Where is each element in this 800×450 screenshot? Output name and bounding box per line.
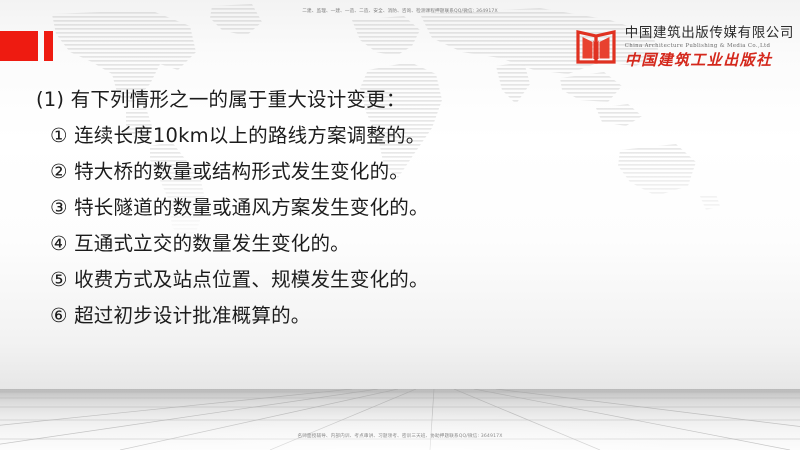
watermark-top: 二建、监理、一建、一造、二造、安全、消防、咨询、检测课程押题联系QQ/微信: 3…: [0, 8, 800, 14]
content-item-2: ② 特大桥的数量或结构形式发生变化的。: [36, 154, 736, 190]
publisher-logo: 中国建筑出版传媒有限公司 China Architecture Publishi…: [574, 26, 794, 68]
publisher-press-name-cn: 中国建筑工业出版社: [625, 52, 794, 69]
publisher-logo-text: 中国建筑出版传媒有限公司 China Architecture Publishi…: [625, 26, 794, 68]
slide-content: (1) 有下列情形之一的属于重大设计变更： ① 连续长度10km以上的路线方案调…: [36, 82, 736, 334]
publisher-company-name-en: China Architecture Publishing & Media Co…: [625, 43, 794, 50]
presentation-slide: 二建、监理、一建、一造、二造、安全、消防、咨询、检测课程押题联系QQ/微信: 3…: [0, 0, 800, 450]
red-bar-wide: [0, 31, 38, 61]
content-item-6: ⑥ 超过初步设计批准概算的。: [36, 298, 736, 334]
content-item-4: ④ 互通式立交的数量发生变化的。: [36, 226, 736, 262]
content-heading: (1) 有下列情形之一的属于重大设计变更：: [36, 82, 736, 118]
watermark-bottom: 名师面授辅导、内部内训、考点串讲、习题领考、密训三天班、协助押题联系QQ/微信:…: [0, 433, 800, 439]
perspective-floor: [0, 389, 800, 450]
open-book-building-logo-icon: [574, 26, 618, 68]
content-item-3: ③ 特长隧道的数量或通风方案发生变化的。: [36, 190, 736, 226]
content-item-1: ① 连续长度10km以上的路线方案调整的。: [36, 118, 736, 154]
red-bar-narrow: [44, 31, 53, 61]
content-item-5: ⑤ 收费方式及站点位置、规模发生变化的。: [36, 262, 736, 298]
publisher-company-name-cn: 中国建筑出版传媒有限公司: [625, 26, 794, 42]
